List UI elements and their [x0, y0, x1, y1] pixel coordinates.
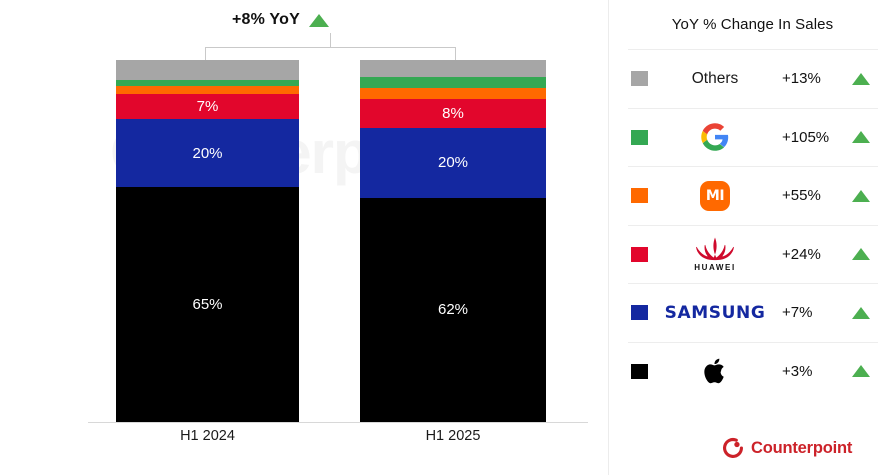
- bracket-leg-left: [205, 47, 206, 60]
- triangle-up-icon: [852, 307, 870, 319]
- growth-callout-label: +8% YoY: [232, 11, 300, 29]
- counterpoint-logo: Counterpoint: [722, 437, 852, 459]
- huawei-wordmark: HUAWEI: [694, 263, 736, 272]
- bar-segment-label: 65%: [192, 297, 222, 312]
- growth-callout: +8% YoY: [232, 11, 329, 29]
- legend-row-huawei[interactable]: HUAWEI+24%: [628, 225, 878, 284]
- legend-row-samsung[interactable]: SAMSUNG+7%: [628, 283, 878, 342]
- legend-swatch-google: [631, 130, 648, 145]
- stacked-bar-h1-2024[interactable]: 7%20%65%: [116, 60, 299, 422]
- legend-brand-label: Others: [692, 70, 739, 88]
- bracket-leg-right: [455, 47, 456, 60]
- legend-direction-indicator: [844, 190, 878, 202]
- legend-brand-cell: HUAWEI: [648, 226, 782, 284]
- triangle-up-icon: [852, 365, 870, 377]
- bar-segment-label: 20%: [192, 146, 222, 161]
- bar-segment-label: 8%: [442, 106, 464, 121]
- legend-brand-cell: [648, 109, 782, 167]
- xiaomi-logo-text: MI: [706, 188, 724, 204]
- legend-brand-cell: [648, 343, 782, 401]
- bar-segment-apple[interactable]: 62%: [360, 198, 546, 422]
- bar-segment-label: 7%: [197, 99, 219, 114]
- legend-swatch-huawei: [631, 247, 648, 262]
- bracket-bar: [205, 47, 455, 48]
- bar-segment-label: 62%: [438, 302, 468, 317]
- legend-title: YoY % Change In Sales: [609, 16, 896, 33]
- counterpoint-mark-icon: [722, 437, 744, 459]
- bar-segment-xiaomi[interactable]: [360, 88, 546, 99]
- legend-change-value: +105%: [782, 129, 844, 146]
- huawei-mark-icon: [692, 236, 738, 262]
- bar-segment-others[interactable]: [116, 60, 299, 80]
- legend-row-others[interactable]: Others+13%: [628, 49, 878, 108]
- bar-segment-xiaomi[interactable]: [116, 86, 299, 94]
- triangle-up-icon: [852, 73, 870, 85]
- legend-swatch-xiaomi: [631, 188, 648, 203]
- legend-change-value: +55%: [782, 187, 844, 204]
- legend-brand-cell: Others: [648, 50, 782, 108]
- counterpoint-wordmark: Counterpoint: [751, 439, 852, 458]
- legend-brand-cell: MI: [648, 167, 782, 225]
- triangle-up-icon: [852, 248, 870, 260]
- huawei-logo-icon: HUAWEI: [692, 236, 738, 272]
- chart-area: +8% YoY 7%20%65% 8%20%62% H1 2024 H1 202…: [0, 0, 608, 475]
- xiaomi-logo-icon: MI: [700, 181, 730, 211]
- samsung-logo-icon: SAMSUNG: [665, 303, 766, 323]
- chart-page: Counterpoint +8% YoY 7%20%65% 8%20%62% H…: [0, 0, 896, 475]
- legend-direction-indicator: [844, 307, 878, 319]
- legend-change-value: +7%: [782, 304, 844, 321]
- legend-change-value: +24%: [782, 246, 844, 263]
- legend-row-apple[interactable]: +3%: [628, 342, 878, 401]
- bracket-stem: [330, 33, 331, 48]
- apple-logo-icon: [702, 356, 728, 386]
- triangle-up-icon: [309, 14, 329, 27]
- triangle-up-icon: [852, 131, 870, 143]
- stacked-bar-h1-2025[interactable]: 8%20%62%: [360, 60, 546, 422]
- bar-segment-label: 20%: [438, 155, 468, 170]
- legend-row-google[interactable]: +105%: [628, 108, 878, 167]
- legend-swatch-others: [631, 71, 648, 86]
- bar-segment-huawei[interactable]: 8%: [360, 99, 546, 128]
- bar-segment-google[interactable]: [360, 77, 546, 88]
- bar-segment-samsung[interactable]: 20%: [116, 119, 299, 186]
- bar-segment-others[interactable]: [360, 60, 546, 77]
- legend-direction-indicator: [844, 365, 878, 377]
- legend-direction-indicator: [844, 131, 878, 143]
- legend-swatch-apple: [631, 364, 648, 379]
- legend-brand-cell: SAMSUNG: [648, 284, 782, 342]
- axis-baseline: [88, 422, 588, 423]
- triangle-up-icon: [852, 190, 870, 202]
- x-axis-label-h1-2025: H1 2025: [360, 428, 546, 444]
- bar-segment-samsung[interactable]: 20%: [360, 128, 546, 198]
- legend-row-xiaomi[interactable]: MI+55%: [628, 166, 878, 225]
- legend-row-list: Others+13%+105%MI+55%HUAWEI+24%SAMSUNG+7…: [628, 49, 878, 400]
- bar-segment-huawei[interactable]: 7%: [116, 94, 299, 119]
- legend-panel: YoY % Change In Sales Others+13%+105%MI+…: [609, 0, 896, 475]
- x-axis-label-h1-2024: H1 2024: [116, 428, 299, 444]
- google-logo-icon: [700, 122, 730, 152]
- legend-swatch-samsung: [631, 305, 648, 320]
- legend-direction-indicator: [844, 248, 878, 260]
- bar-segment-apple[interactable]: 65%: [116, 187, 299, 422]
- legend-change-value: +3%: [782, 363, 844, 380]
- legend-direction-indicator: [844, 73, 878, 85]
- legend-change-value: +13%: [782, 70, 844, 87]
